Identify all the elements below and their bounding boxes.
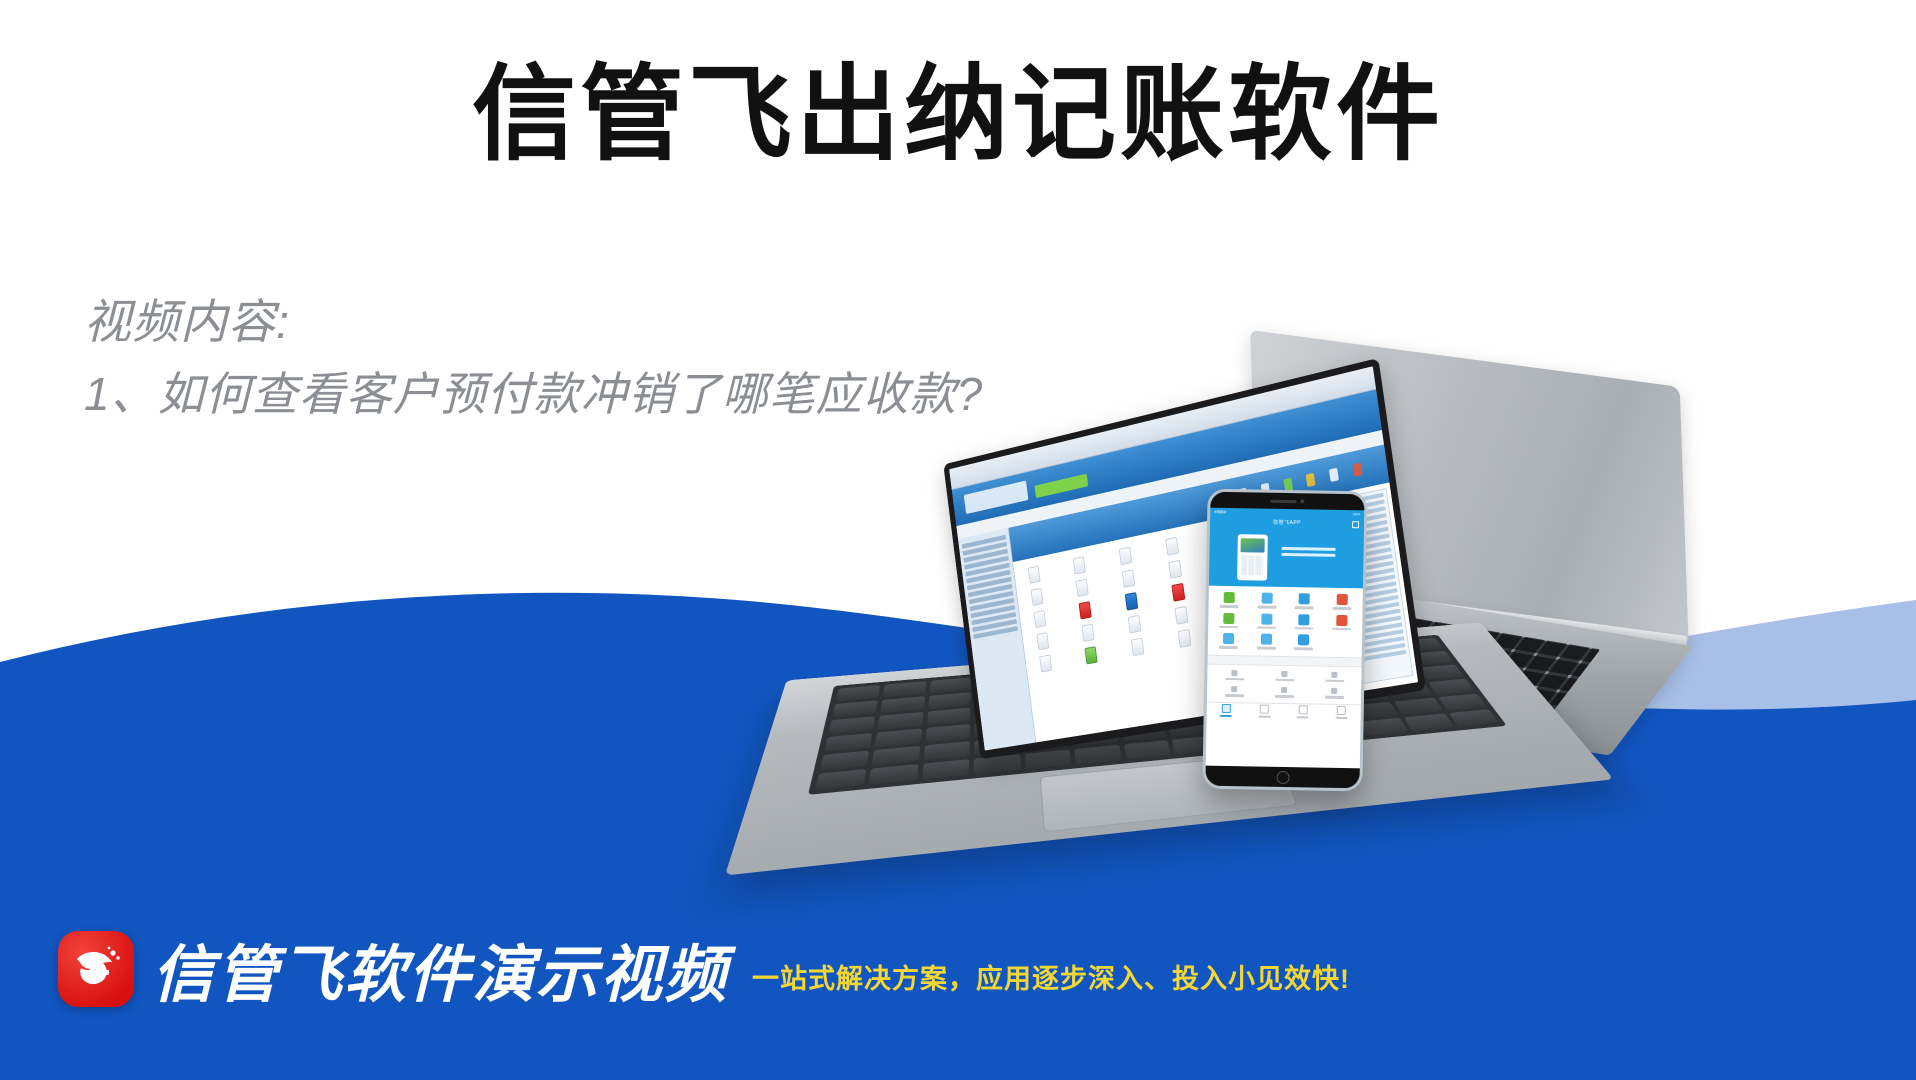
phone-grid-item[interactable] <box>1248 613 1286 629</box>
phone-tab-reports[interactable] <box>1284 705 1323 719</box>
phone-grid-item[interactable] <box>1286 593 1324 609</box>
phone-tab-records[interactable] <box>1245 704 1284 718</box>
phone-grid-item[interactable] <box>1211 592 1249 608</box>
phone-screen: 中国移动 100% 信管飞APP <box>1206 508 1364 769</box>
toolbar-icon-blue <box>1329 468 1339 482</box>
slide-canvas: 信管飞出纳记账软件 视频内容: 1、如何查看客户预付款冲销了哪笔应收款? <box>0 0 1916 1080</box>
phone-camera-icon <box>1300 499 1304 503</box>
hamburger-menu-icon[interactable] <box>1352 521 1359 528</box>
battery-label: 100% <box>1352 512 1360 516</box>
phone-secondary-grid <box>1207 664 1362 704</box>
phone-grid-item-empty <box>1322 635 1360 651</box>
phone-tab-bar <box>1207 701 1361 721</box>
phone-grid-item[interactable] <box>1323 594 1361 610</box>
home-button-icon[interactable] <box>1276 770 1289 783</box>
smartphone: 中国移动 100% 信管飞APP <box>1202 489 1367 792</box>
open-laptop <box>840 350 1480 910</box>
page-title: 信管飞出纳记账软件 <box>0 56 1916 176</box>
footer-brand-bar: 信管飞软件演示视频 一站式解决方案，应用逐步深入、投入小见效快! <box>0 880 1916 1080</box>
phone-speaker <box>1270 499 1296 502</box>
phone-grid2-item[interactable] <box>1209 686 1259 697</box>
banner-text-lines <box>1281 547 1335 560</box>
toolbar-icon-red <box>1353 462 1363 476</box>
phone-grid-item[interactable] <box>1210 612 1248 628</box>
phone-grid-item[interactable] <box>1285 614 1323 630</box>
carrier-label: 中国移动 <box>1214 509 1226 513</box>
app-badge <box>1035 473 1089 498</box>
phone-app-title: 信管飞APP <box>1273 519 1301 526</box>
banner-phone-graphic <box>1237 534 1268 581</box>
phone-grid2-item[interactable] <box>1309 671 1359 682</box>
phone-banner <box>1209 528 1364 589</box>
phone-tab-home[interactable] <box>1207 704 1246 718</box>
phone-tab-profile[interactable] <box>1322 706 1361 720</box>
phone-grid-item[interactable] <box>1323 614 1361 630</box>
phone-grid2-item[interactable] <box>1259 687 1309 698</box>
phone-grid-item[interactable] <box>1247 633 1285 649</box>
phone-chin <box>1205 766 1359 789</box>
phone-grid-item[interactable] <box>1248 592 1286 608</box>
phone-grid-item[interactable] <box>1285 634 1323 650</box>
bird-logo-icon <box>58 931 134 1007</box>
phone-grid2-item[interactable] <box>1209 669 1259 680</box>
device-composition: 中国移动 100% 信管飞APP <box>860 330 1916 970</box>
banner-keypad-icon <box>1241 555 1263 575</box>
app-logo-icon <box>964 480 1028 513</box>
brand-lockup: 信管飞软件演示视频 <box>58 924 728 1014</box>
phone-body: 中国移动 100% 信管飞APP <box>1205 492 1364 789</box>
toolbar-icon-yellow <box>1306 473 1316 487</box>
phone-grid2-item[interactable] <box>1309 687 1359 698</box>
phone-grid-item[interactable] <box>1210 633 1248 649</box>
phone-icon-grid <box>1208 586 1363 657</box>
brand-name: 信管飞软件演示视频 <box>152 924 728 1014</box>
banner-image-icon <box>1241 538 1265 552</box>
brand-tagline: 一站式解决方案，应用逐步深入、投入小见效快! <box>752 957 1350 996</box>
phone-grid2-item[interactable] <box>1259 670 1309 681</box>
